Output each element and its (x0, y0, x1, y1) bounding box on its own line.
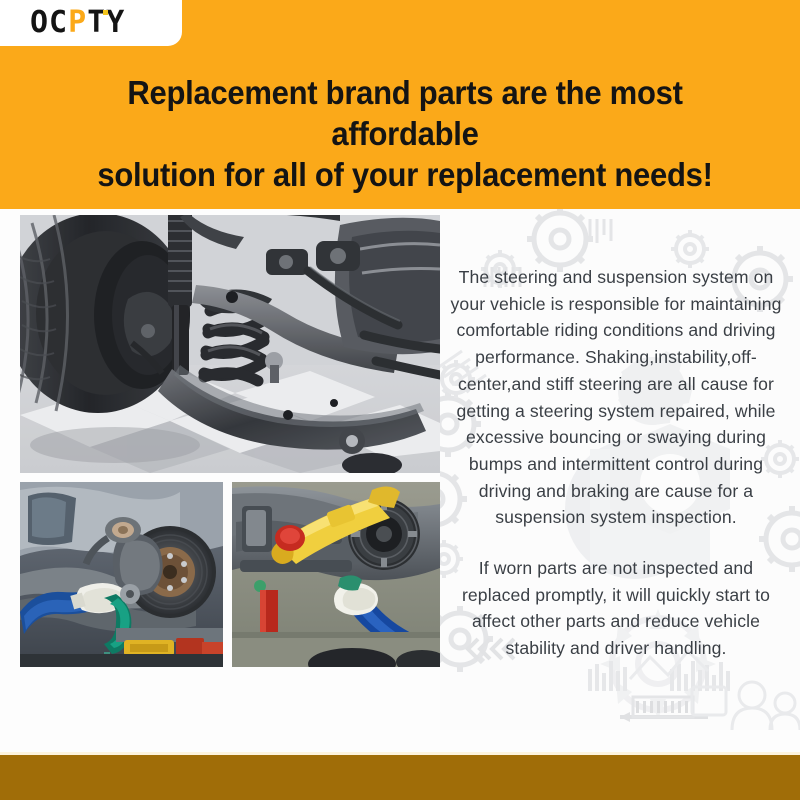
headline-line-1: Replacement brand parts are the most aff… (127, 74, 682, 152)
body-paragraph-2: If worn parts are not inspected and repl… (444, 555, 788, 662)
bottom-gold-bar (0, 755, 800, 800)
logo-y-glyph: Y (106, 5, 125, 40)
under-lift-illustration (232, 482, 440, 667)
top-orange-banner: OCPTY Replacement brand parts are the mo… (0, 0, 800, 209)
logo-part-p: P (68, 5, 87, 40)
mechanic-brake-rotor-photo (20, 482, 223, 667)
brand-logo: OCPTY (30, 7, 125, 38)
brake-service-illustration (20, 482, 223, 667)
body-copy: The steering and suspension system on yo… (444, 264, 788, 662)
poster-canvas: OCPTY Replacement brand parts are the mo… (0, 0, 800, 800)
headline-line-2: solution for all of your replacement nee… (62, 154, 748, 195)
logo-part-y: Y (106, 7, 125, 38)
car-suspension-assembly-photo (20, 215, 440, 473)
body-text-panel: The steering and suspension system on yo… (440, 209, 800, 730)
logo-tick-mark (103, 10, 108, 15)
logo-part-oc: OC (30, 5, 68, 40)
mechanic-under-lift-photo (232, 482, 440, 667)
logo-panel: OCPTY (0, 0, 182, 46)
body-paragraph-1: The steering and suspension system on yo… (444, 264, 788, 531)
headline: Replacement brand parts are the most aff… (62, 72, 748, 195)
suspension-illustration (20, 215, 440, 473)
